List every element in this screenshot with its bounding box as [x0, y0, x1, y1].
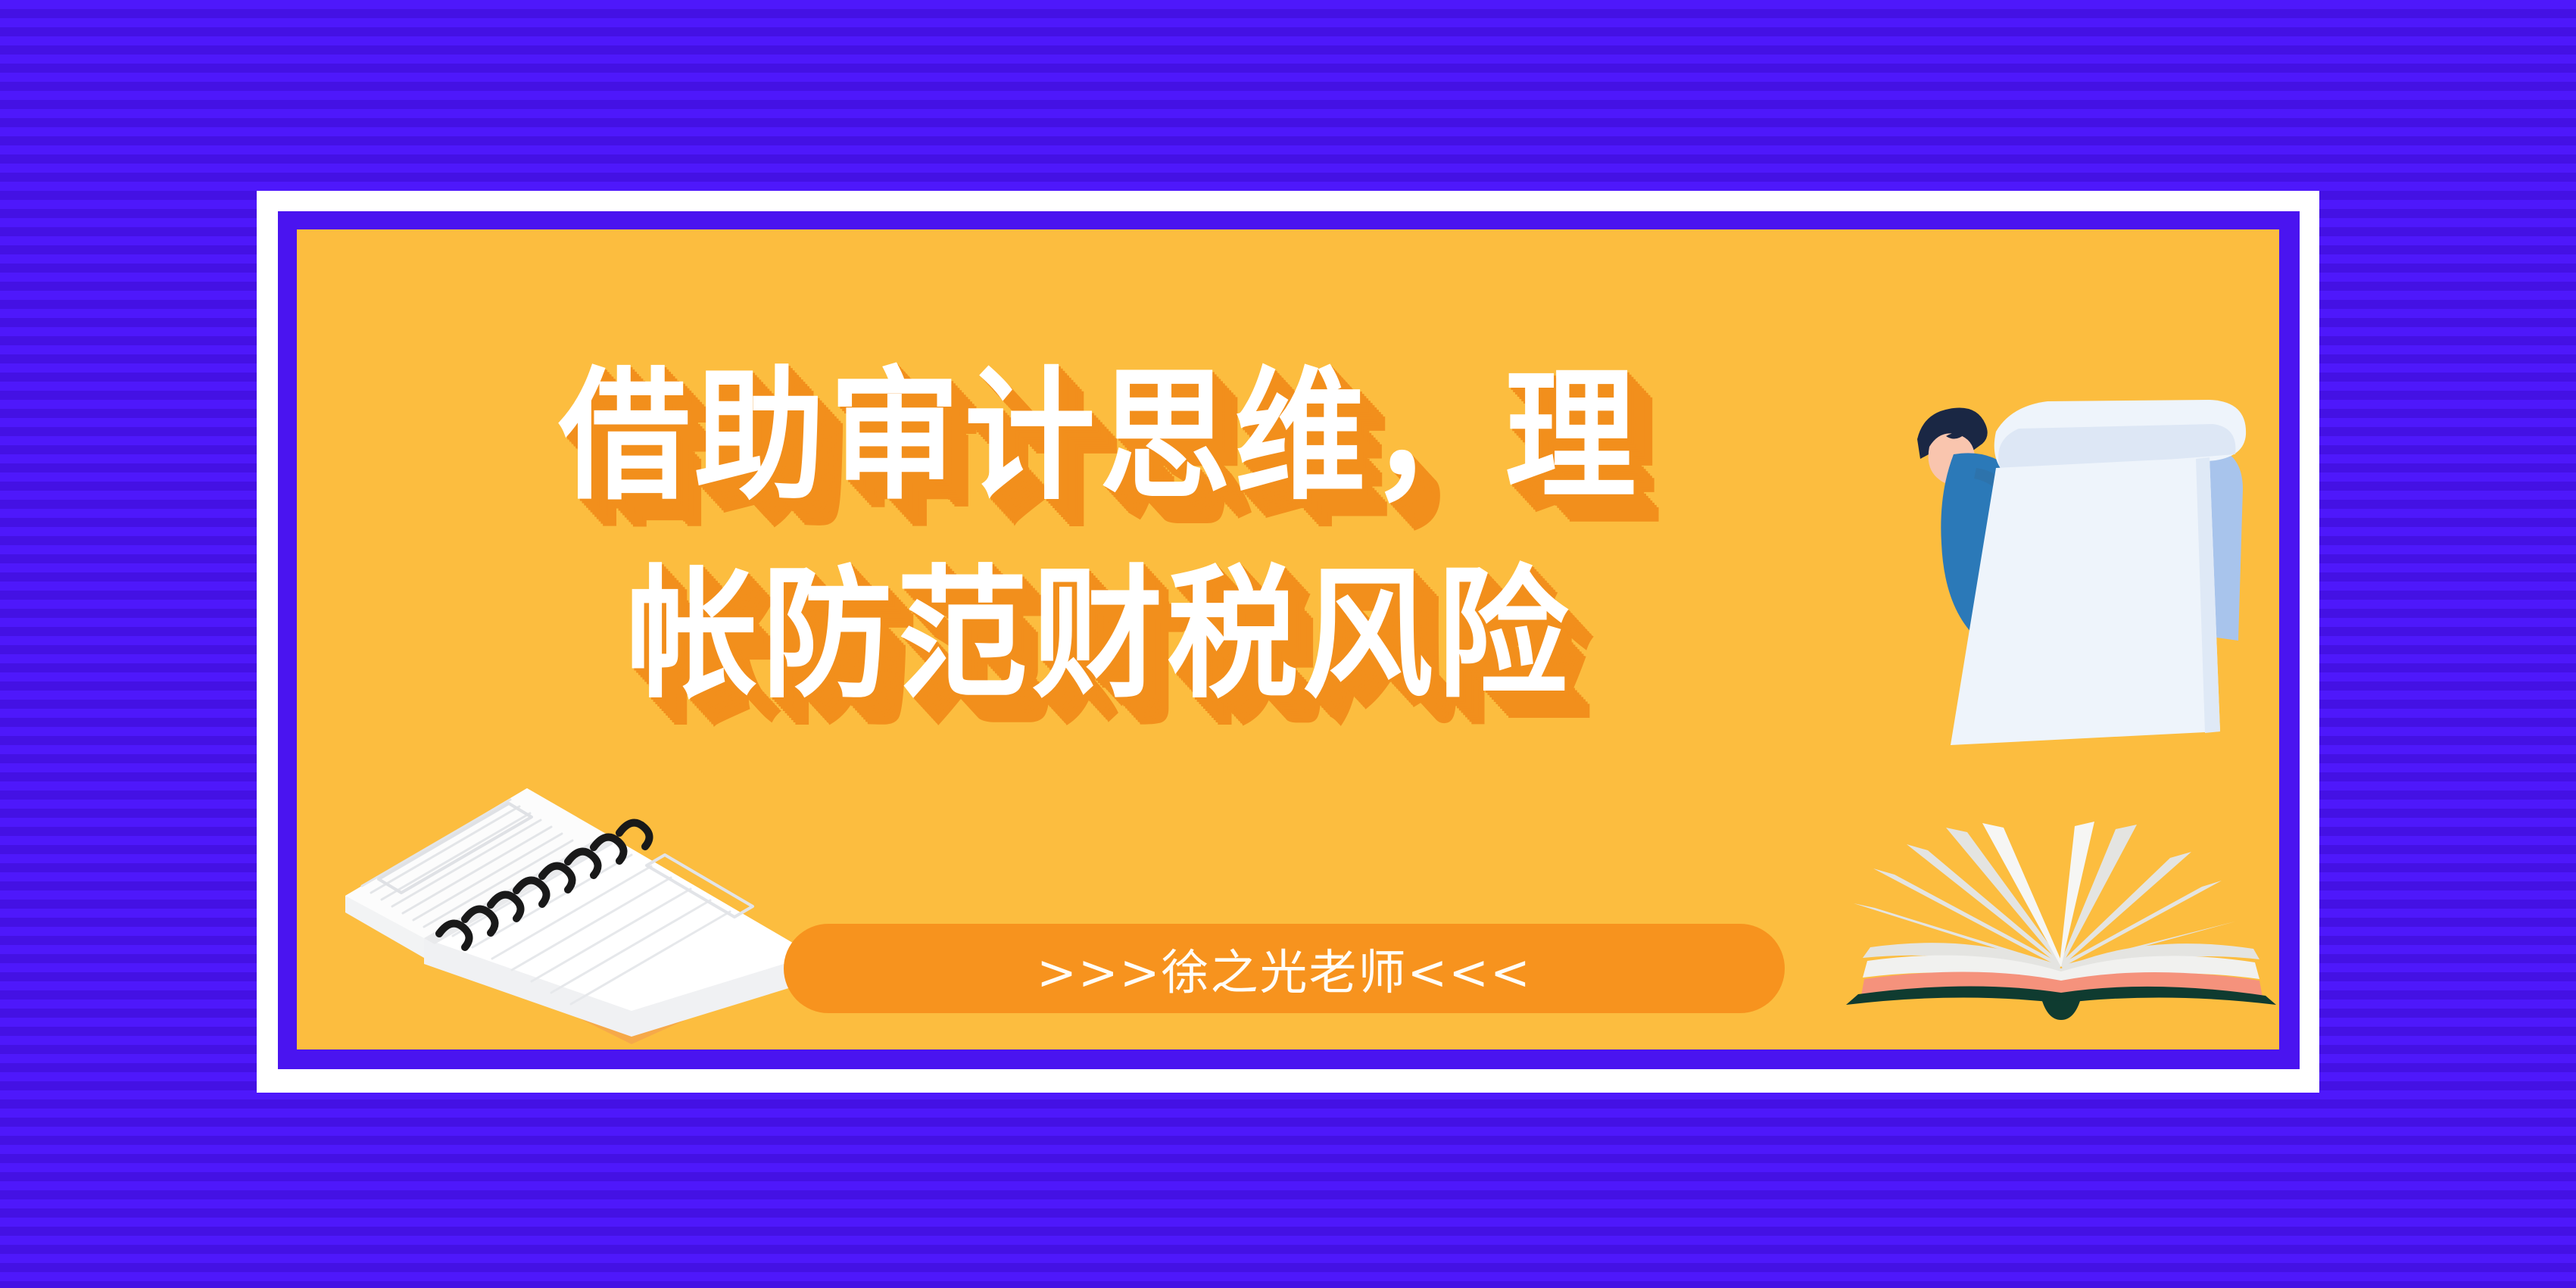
- spiral-notebook-illustration: [329, 744, 828, 1047]
- orange-content-panel: 借助审计思维，理 帐防范财税风险 >>>徐之光老师<<<: [297, 229, 2279, 1049]
- open-book-illustration: [1834, 805, 2279, 1032]
- person-holding-document-illustration: [1904, 392, 2279, 786]
- purple-frame-border: 借助审计思维，理 帐防范财税风险 >>>徐之光老师<<<: [278, 211, 2300, 1069]
- speaker-button[interactable]: >>>徐之光老师<<<: [784, 924, 1785, 1013]
- white-frame-border: 借助审计思维，理 帐防范财税风险 >>>徐之光老师<<<: [257, 191, 2319, 1093]
- title-line-1: 借助审计思维，理: [361, 343, 1838, 531]
- poster-title: 借助审计思维，理 帐防范财税风险: [297, 343, 1902, 729]
- poster-canvas: 借助审计思维，理 帐防范财税风险 >>>徐之光老师<<<: [0, 0, 2576, 1288]
- speaker-button-label: >>>徐之光老师<<<: [1037, 934, 1532, 1003]
- title-line-2: 帐防范财税风险: [361, 541, 1838, 729]
